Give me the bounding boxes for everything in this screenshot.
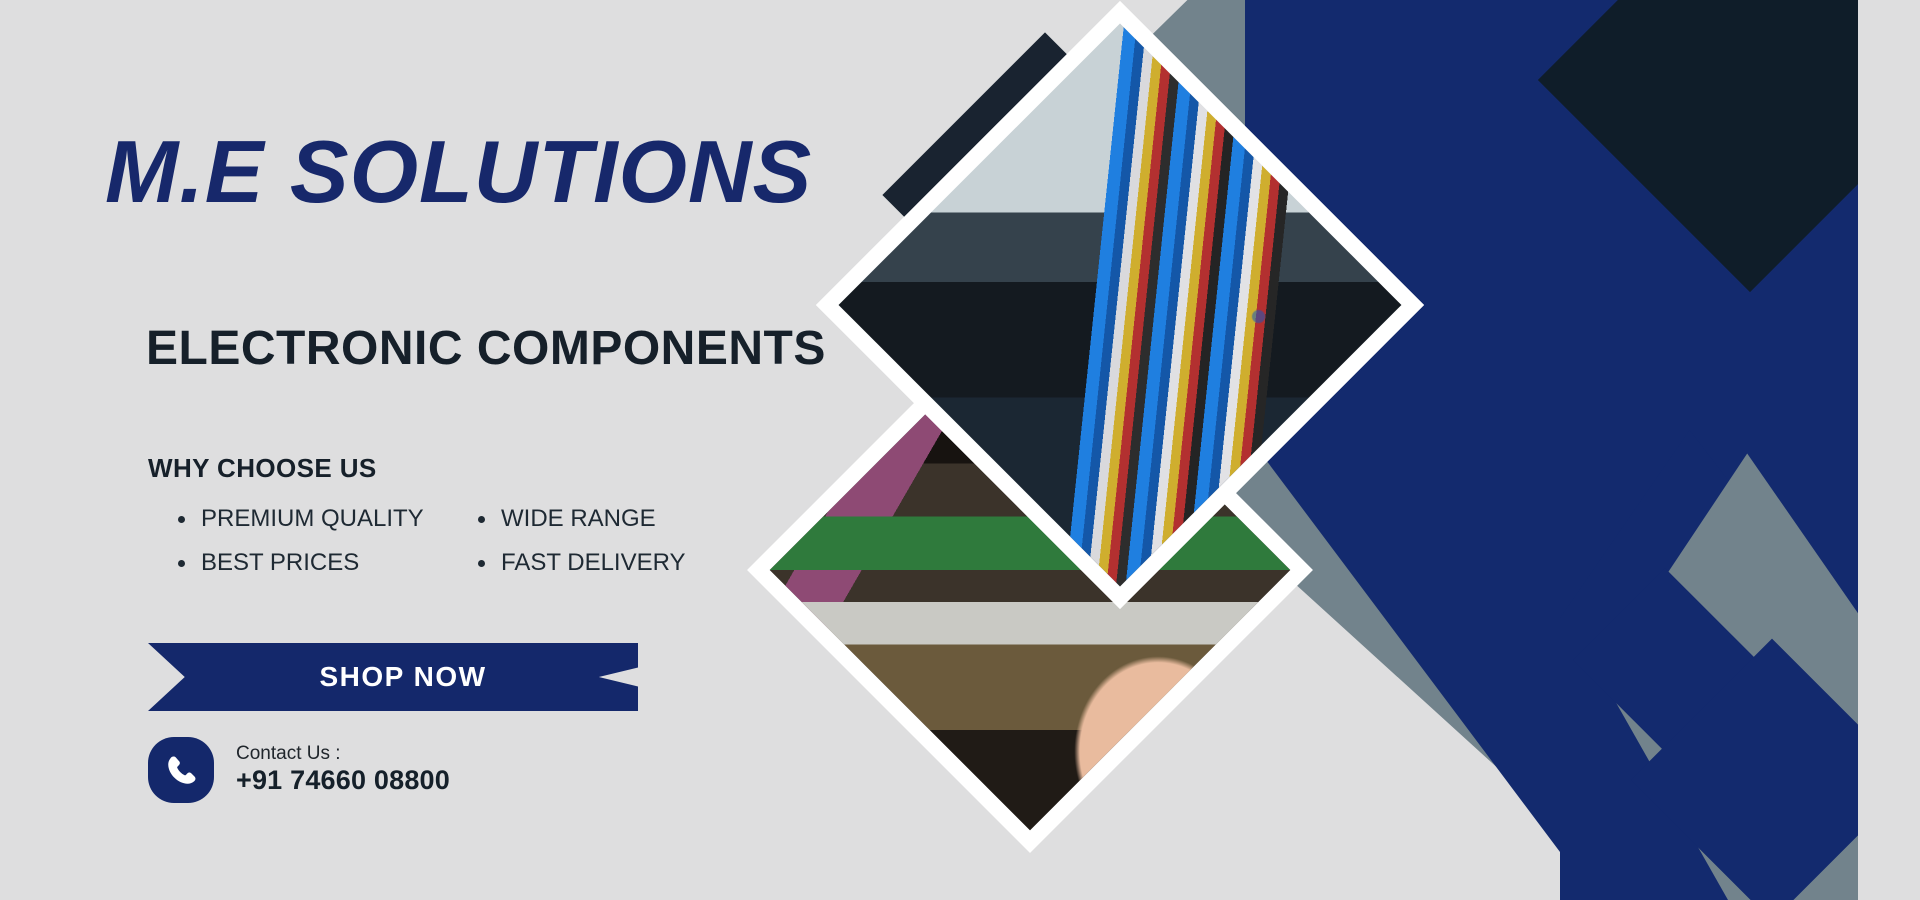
list-item: BEST PRICES (178, 549, 478, 577)
feature-label: PREMIUM QUALITY (201, 505, 424, 533)
brand-title: M.E SOLUTIONS (105, 128, 812, 216)
shop-now-button[interactable]: SHOP NOW (148, 643, 638, 711)
right-edge-strip (1858, 0, 1920, 900)
feature-list: PREMIUM QUALITY WIDE RANGE BEST PRICES F… (178, 505, 738, 577)
bullet-icon (478, 560, 485, 567)
banner-content: M.E SOLUTIONS ELECTRONIC COMPONENTS WHY … (0, 0, 900, 900)
list-item: PREMIUM QUALITY (178, 505, 478, 533)
phone-icon (148, 737, 214, 803)
contact-label: Contact Us : (236, 743, 450, 765)
bullet-icon (178, 516, 185, 523)
shop-now-label: SHOP NOW (319, 661, 486, 693)
bullet-icon (178, 560, 185, 567)
contact-block[interactable]: Contact Us : +91 74660 08800 (148, 737, 450, 803)
promotional-banner: M.E SOLUTIONS ELECTRONIC COMPONENTS WHY … (0, 0, 1920, 900)
feature-label: WIDE RANGE (501, 505, 656, 533)
contact-text: Contact Us : +91 74660 08800 (236, 743, 450, 797)
feature-label: BEST PRICES (201, 549, 359, 577)
why-choose-us-heading: WHY CHOOSE US (148, 453, 377, 484)
bullet-icon (478, 516, 485, 523)
list-item: FAST DELIVERY (478, 549, 738, 577)
contact-phone-number[interactable]: +91 74660 08800 (236, 765, 450, 797)
feature-label: FAST DELIVERY (501, 549, 686, 577)
brand-subtitle: ELECTRONIC COMPONENTS (146, 325, 826, 373)
list-item: WIDE RANGE (478, 505, 738, 533)
